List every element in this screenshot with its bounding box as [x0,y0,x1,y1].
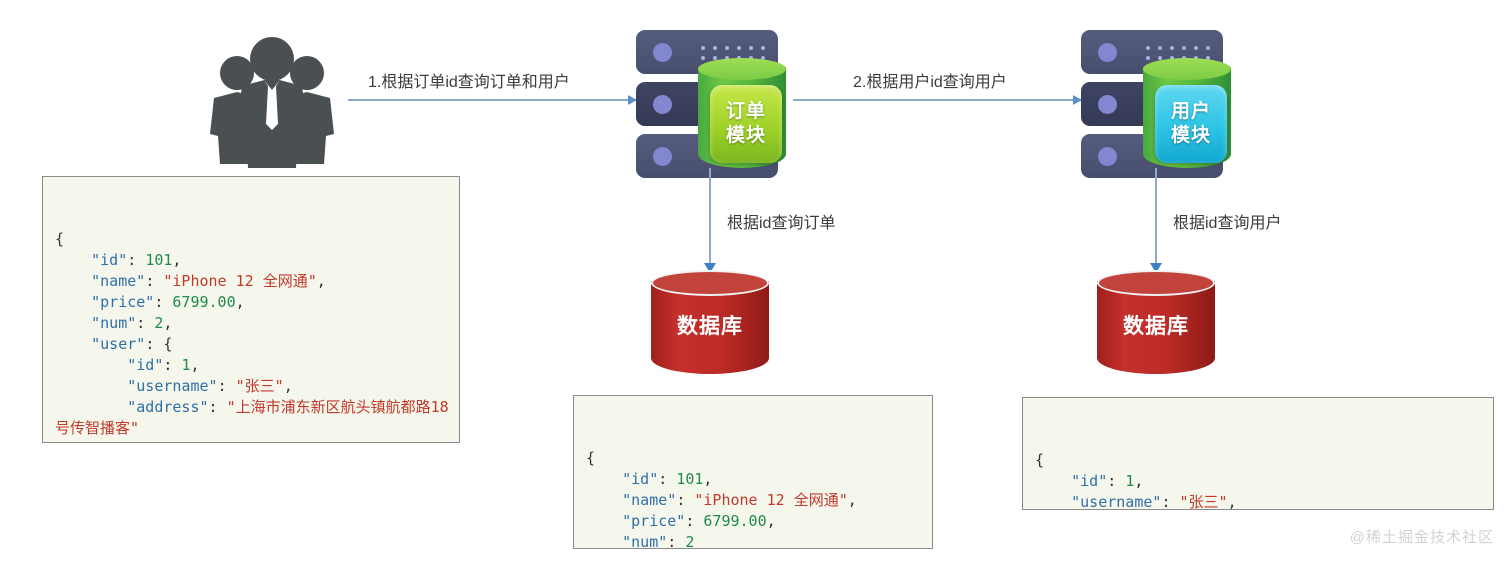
json-line: "name": "iPhone 12 全网通", [55,271,451,292]
json-line: { [55,229,451,250]
json-token: 2 [685,533,694,549]
json-token: "张三" [1180,493,1228,510]
json-token: "num" [91,314,136,332]
json-indent [55,440,91,443]
cylinder-top [698,58,786,80]
order-module-cylinder: 订单 模块 [698,58,786,176]
user-database-label: 数据库 [1097,310,1215,340]
rack-led-icon [653,43,672,62]
json-line: "username": "张三", [1035,492,1485,510]
json-indent [586,512,622,530]
json-indent [1035,493,1071,510]
json-token: "id" [1071,472,1107,490]
json-indent [586,533,622,549]
arrow-user-to-order-service [348,99,636,101]
json-line: "name": "iPhone 12 全网通", [586,490,924,511]
rack-led-icon [1098,147,1117,166]
json-token: "username" [1071,493,1161,510]
edge-label-4: 根据id查询用户 [1173,209,1281,233]
json-token: { [163,335,172,353]
json-line: "address": "上海市浦东新区航头镇航都路18号传智播客" [55,397,451,439]
json-line: "price": 6799.00, [55,292,451,313]
edge-label-1: 1.根据订单id查询订单和用户 [368,68,570,92]
json-token: : [154,293,172,311]
json-token: , [703,470,712,488]
json-token: , [172,251,181,269]
watermark: @稀土掘金技术社区 [1350,526,1494,547]
json-line: "id": 101, [55,250,451,271]
rack-led-icon [1098,95,1117,114]
user-module-label: 用户 模块 [1155,85,1227,163]
json-token: : [163,356,181,374]
json-code: { "id": 101, "name": "iPhone 12 全网通", "p… [574,438,932,549]
json-token: , [848,491,857,509]
json-token: : [218,377,236,395]
json-token: { [586,449,595,467]
json-token: "id" [622,470,658,488]
rack-led-icon [653,147,672,166]
json-token: 1 [1125,472,1134,490]
json-token: "address" [127,398,208,416]
json-line: "num": 2, [55,313,451,334]
order-database-cylinder: 数据库 [651,270,769,380]
user-database-cylinder: 数据库 [1097,270,1215,380]
arrow-order-service-to-db [709,168,711,264]
json-token: "iPhone 12 全网通" [163,272,316,290]
json-line: { [586,448,924,469]
json-code: { "id": 1, "username": "张三", "address": … [1023,440,1493,510]
json-token: : [667,533,685,549]
json-token: : [676,491,694,509]
json-indent [55,398,127,416]
json-token: : [136,314,154,332]
json-token: , [163,314,172,332]
json-line: "id": 101, [586,469,924,490]
json-token: : [145,335,163,353]
json-token: : [1161,493,1179,510]
json-token: "name" [91,272,145,290]
json-token: "price" [622,512,685,530]
json-token: { [1035,451,1044,469]
json-line: } [55,439,451,443]
rack-led-icon [1098,43,1117,62]
json-token: , [284,377,293,395]
rack-led-icon [653,95,672,114]
json-token: : [685,512,703,530]
json-indent [55,272,91,290]
order-module-label-line2: 模块 [726,124,766,148]
json-token: "iPhone 12 全网通" [694,491,847,509]
cylinder-top [1143,58,1231,80]
json-indent [55,356,127,374]
json-indent [55,293,91,311]
diagram-canvas: 1.根据订单id查询订单和用户 订单 [0,0,1512,563]
json-indent [55,377,127,395]
json-token: , [767,512,776,530]
json-line: "num": 2 [586,532,924,549]
json-token: { [55,230,64,248]
json-token: } [91,440,100,443]
json-line: "username": "张三", [55,376,451,397]
json-token: , [236,293,245,311]
json-token: : [1107,472,1125,490]
arrow-order-to-user-service [793,99,1081,101]
people-group-icon [204,28,340,168]
arrow-user-service-to-db [1155,168,1157,264]
json-token: "price" [91,293,154,311]
user-table-json-box: { "id": 1, "username": "张三", "address": … [1022,397,1494,510]
json-line: { [1035,450,1485,471]
json-indent [586,491,622,509]
order-module-label: 订单 模块 [710,85,782,163]
json-line: "id": 1, [1035,471,1485,492]
user-service-node: 用户 模块 [1081,30,1231,178]
edge-label-2: 2.根据用户id查询用户 [853,68,1007,92]
order-table-json-box: { "id": 101, "name": "iPhone 12 全网通", "p… [573,395,933,549]
edge-label-3: 根据id查询订单 [727,209,835,233]
database-top [1097,270,1215,296]
order-module-label-line1: 订单 [726,100,766,124]
json-token: , [1228,493,1237,510]
json-line: "price": 6799.00, [586,511,924,532]
json-token: 6799.00 [172,293,235,311]
json-token: : [209,398,227,416]
json-indent [1035,472,1071,490]
json-token: "张三" [236,377,284,395]
json-token: "num" [622,533,667,549]
user-module-label-line1: 用户 [1171,100,1211,124]
order-with-user-json-box: { "id": 101, "name": "iPhone 12 全网通", "p… [42,176,460,443]
json-token: 101 [676,470,703,488]
json-token: 101 [145,251,172,269]
order-service-node: 订单 模块 [636,30,786,178]
json-code: { "id": 101, "name": "iPhone 12 全网通", "p… [43,219,459,443]
json-token: , [317,272,326,290]
user-module-cylinder: 用户 模块 [1143,58,1231,176]
json-token: "id" [127,356,163,374]
json-token: : [145,272,163,290]
database-top [651,270,769,296]
json-token: , [1134,472,1143,490]
json-token: "id" [91,251,127,269]
json-indent [55,314,91,332]
json-line: "user": { [55,334,451,355]
json-token: , [190,356,199,374]
json-token: "user" [91,335,145,353]
json-indent [586,470,622,488]
json-token: "username" [127,377,217,395]
json-indent [55,251,91,269]
order-database-label: 数据库 [651,310,769,340]
user-module-label-line2: 模块 [1171,124,1211,148]
json-indent [55,335,91,353]
json-token: 6799.00 [703,512,766,530]
json-token: : [658,470,676,488]
json-line: "id": 1, [55,355,451,376]
json-token: : [127,251,145,269]
json-token: "name" [622,491,676,509]
